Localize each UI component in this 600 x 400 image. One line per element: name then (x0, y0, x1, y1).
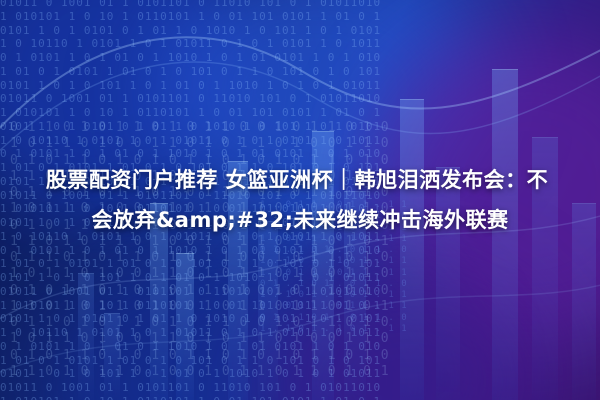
headline-line-1: 股票配资门户推荐 女篮亚洲杯｜韩旭泪洒发布会：不 (46, 160, 548, 200)
headline-block: 股票配资门户推荐 女篮亚洲杯｜韩旭泪洒发布会：不 会放弃&amp;#32;未来继… (0, 0, 600, 400)
headline-line-2: 会放弃&amp;#32;未来继续冲击海外联赛 (91, 200, 508, 240)
banner-image: 01011 0 1001 01 1 0101101 0 11010 101 0 … (0, 0, 600, 400)
